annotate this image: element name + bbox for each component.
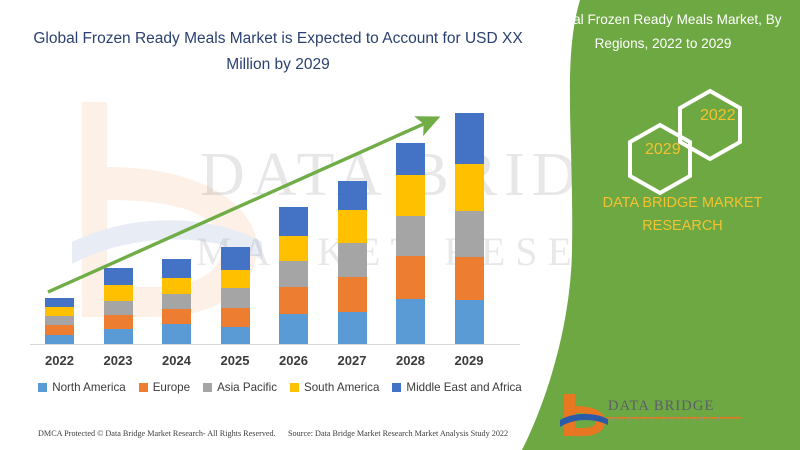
bar-segment [455,164,484,211]
legend-item[interactable]: Middle East and Africa [392,381,521,394]
bar-2026[interactable] [279,207,308,344]
legend-label: Asia Pacific [217,381,277,394]
brand-line-2: RESEARCH [575,215,790,238]
bar-segment [104,329,133,344]
x-axis-label: 2025 [205,353,265,368]
bar-segment [455,257,484,300]
x-axis-label: 2024 [147,353,207,368]
bar-segment [104,285,133,301]
hex-label-2022: 2022 [700,107,736,125]
legend-swatch-icon [139,383,148,392]
x-axis-label: 2028 [381,353,441,368]
bar-2025[interactable] [221,247,250,344]
legend-label: Middle East and Africa [406,381,521,394]
bar-segment [455,211,484,256]
bar-segment [221,270,250,288]
bar-segment [45,316,74,325]
legend-label: South America [304,381,379,394]
bar-segment [396,216,425,255]
bar-segment [396,175,425,216]
bar-segment [455,300,484,344]
bar-segment [45,298,74,307]
legend-swatch-icon [203,383,212,392]
bar-segment [455,113,484,164]
bar-segment [45,325,74,335]
x-axis-line [30,344,520,345]
logo-wordmark: DATA BRIDGE [608,398,714,415]
x-axis-label: 2027 [322,353,382,368]
infographic-slide: DATA BRIDGE MARKET RESEARCH Global Froze… [0,0,800,450]
logo-tagline: MARKET RESEARCH [610,416,723,423]
bar-2022[interactable] [45,298,74,344]
legend-item[interactable]: South America [290,381,379,394]
x-axis-label: 2022 [30,353,90,368]
bar-2029[interactable] [455,113,484,344]
legend-item[interactable]: Europe [139,381,190,394]
legend-item[interactable]: North America [38,381,125,394]
bar-segment [162,324,191,344]
legend-label: Europe [153,381,190,394]
bar-segment [279,207,308,235]
x-axis-label: 2029 [439,353,499,368]
bar-segment [162,278,191,294]
bar-segment [162,294,191,309]
bar-segment [104,268,133,285]
hex-label-2029: 2029 [645,141,681,159]
bar-segment [396,143,425,175]
bar-segment [162,309,191,324]
bar-segment [104,315,133,329]
legend-swatch-icon [38,383,47,392]
bar-segment [279,261,308,287]
bar-segment [279,314,308,344]
bar-2023[interactable] [104,268,133,344]
bar-segment [45,335,74,344]
bar-segment [396,256,425,299]
hexagon-group [598,88,778,196]
legend-item[interactable]: Asia Pacific [203,381,277,394]
bar-segment [221,247,250,270]
bar-segment [221,288,250,308]
bar-2024[interactable] [162,259,191,344]
legend-swatch-icon [290,383,299,392]
bar-2028[interactable] [396,143,425,344]
footer-source: Source: Data Bridge Market Research Mark… [288,429,508,438]
bar-segment [338,277,367,312]
bar-segment [221,308,250,327]
legend-swatch-icon [392,383,401,392]
bar-segment [338,181,367,210]
bar-segment [279,287,308,314]
bar-segment [338,243,367,277]
panel-title: Global Frozen Ready Meals Market, By Reg… [534,8,792,56]
bar-segment [338,210,367,242]
x-axis-label: 2026 [264,353,324,368]
bar-segment [162,259,191,278]
page-title: Global Frozen Ready Meals Market is Expe… [28,26,528,78]
bar-segment [104,301,133,315]
bar-segment [396,299,425,344]
bar-2027[interactable] [338,181,367,344]
bar-segment [338,312,367,344]
legend-label: North America [52,381,125,394]
bar-segment [45,307,74,316]
bar-segment [279,236,308,261]
brand-line-1: DATA BRIDGE MARKET [575,192,790,215]
chart-legend: North AmericaEuropeAsia PacificSouth Ame… [24,381,536,394]
bar-segment [221,327,250,344]
brand-name: DATA BRIDGE MARKET RESEARCH [575,192,790,238]
footer-copyright: DMCA Protected © Data Bridge Market Rese… [38,429,276,438]
x-axis-label: 2023 [88,353,148,368]
